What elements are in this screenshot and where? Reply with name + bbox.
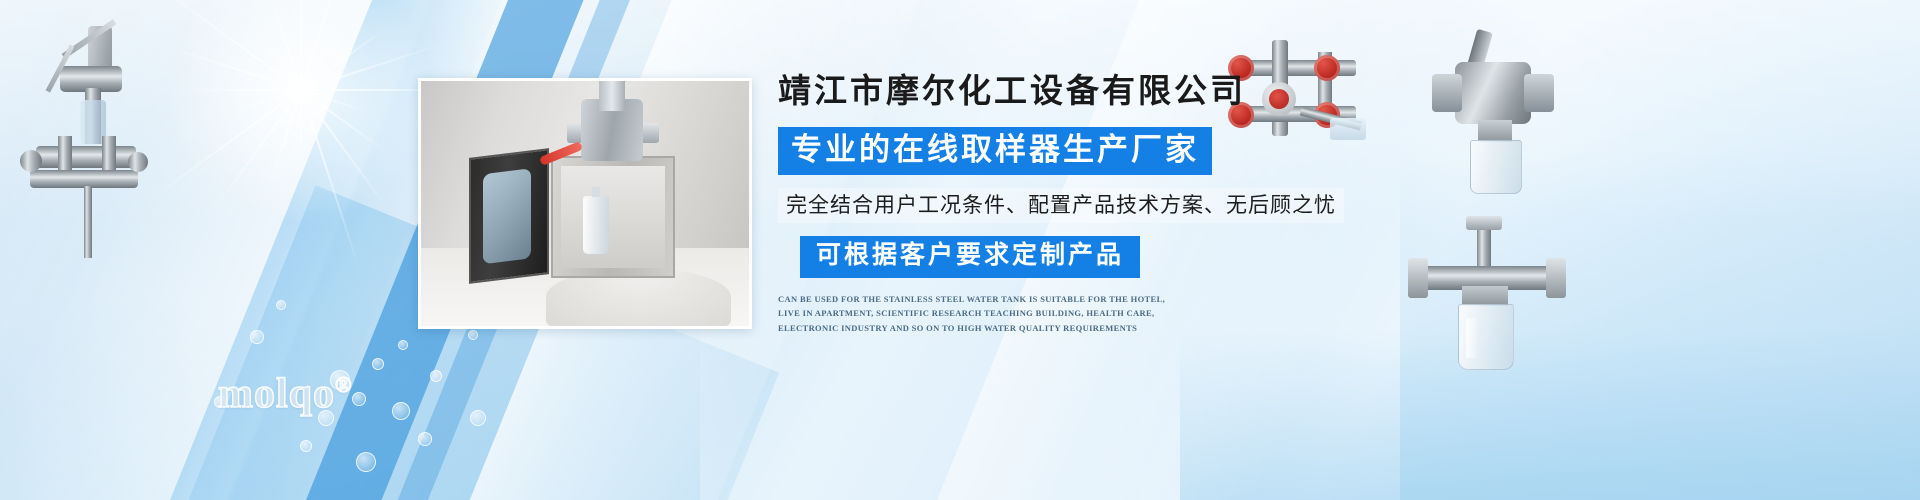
headline-badge: 专业的在线取样器生产厂家 [778,127,1212,174]
sun-ray [300,89,390,155]
bubble-icon [300,440,312,452]
english-description: CAN BE USED FOR THE STAINLESS STEEL WATE… [778,292,1173,337]
bubble-icon [372,358,384,370]
bubble-icon [250,330,264,344]
sun-ray [266,90,302,195]
company-name: 靖江市摩尔化工设备有限公司 [778,72,1418,113]
sun-ray [300,89,390,212]
sun-ray [212,89,302,212]
bubble-icon [352,392,366,406]
subline-text: 完全结合用户工况条件、配置产品技术方案、无后顾之忧 [778,188,1344,223]
bubble-icon [276,300,286,310]
bubble-icon [392,402,410,420]
promo-banner: 靖江市摩尔化工设备有限公司 专业的在线取样器生产厂家 完全结合用户工况条件、配置… [0,0,1920,500]
sun-ray [147,89,302,202]
sun-ray [300,0,302,90]
bubble-icon [398,340,408,350]
product-photo [418,78,752,329]
sun-ray [300,90,302,160]
bubble-icon [418,432,432,446]
bubble-icon [430,370,442,382]
custom-product-badge: 可根据客户要求定制产品 [800,236,1140,278]
sunburst-glow [150,0,450,240]
bubble-icon [468,330,478,340]
sun-ray [300,90,361,271]
bubble-icon [356,452,376,472]
sun-ray [191,89,301,91]
watermark-text: molqo [218,371,335,417]
watermark-logo: molqo® [218,370,352,418]
bubble-icon [470,410,486,426]
sun-ray [158,43,301,91]
sun-ray [300,25,390,91]
registered-mark-icon: ® [335,372,352,397]
text-block: 靖江市摩尔化工设备有限公司 专业的在线取样器生产厂家 完全结合用户工况条件、配置… [778,72,1418,336]
